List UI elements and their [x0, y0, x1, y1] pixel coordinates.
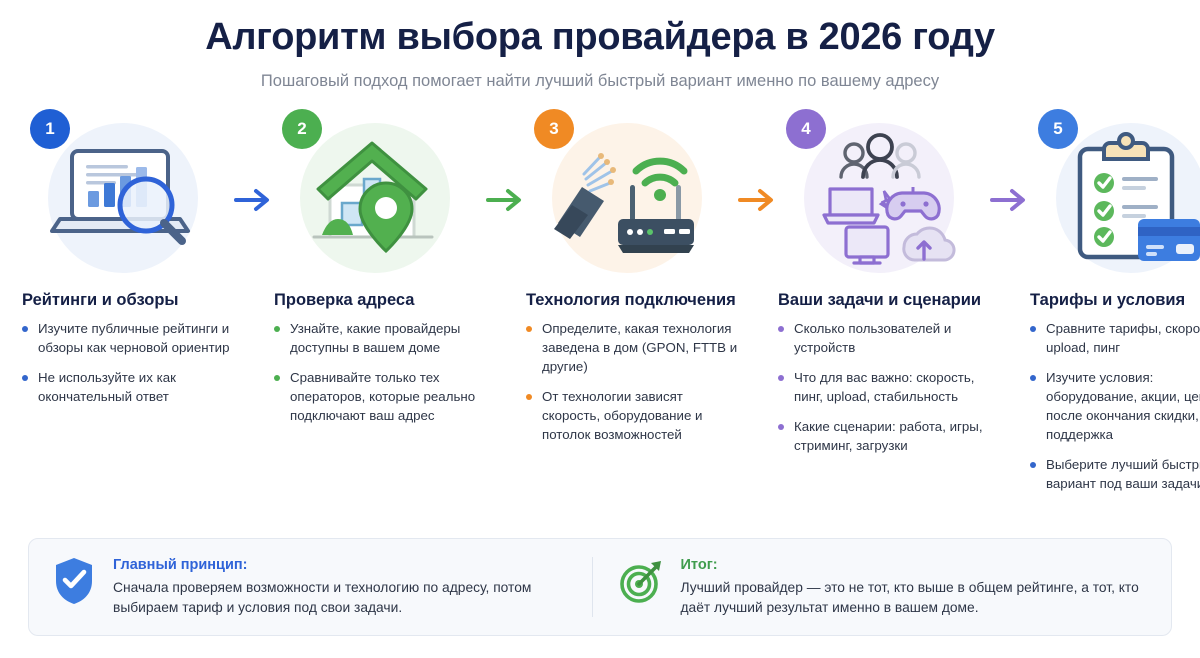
step-4: 4 [778, 109, 990, 467]
house-location-pin-icon [294, 127, 459, 269]
footer-principle-label: Главный принцип: [113, 557, 582, 573]
arrow-step-3-to-4 [738, 109, 778, 289]
step-3-bullets: Определите, какая технология заведена в … [526, 320, 738, 444]
steps-row: 1 Рейтинги и обзоры Из [0, 91, 1200, 505]
arrow-step-1-to-2 [234, 109, 274, 289]
list-item: Изучите условия: оборудование, акции, це… [1030, 369, 1200, 445]
footer-principle-text: Сначала проверяем возможности и технолог… [113, 578, 582, 619]
header: Алгоритм выбора провайдера в 2026 году П… [0, 0, 1200, 91]
arrow-step-2-to-3 [486, 109, 526, 289]
step-4-title: Ваши задачи и сценарии [778, 291, 990, 311]
step-2-illustration: 2 [274, 109, 486, 279]
step-1-bullets: Изучите публичные рейтинги и обзоры как … [22, 320, 234, 407]
page-title: Алгоритм выбора провайдера в 2026 году [0, 16, 1200, 60]
step-4-badge: 4 [786, 109, 826, 149]
footer-result-text: Лучший провайдер — это не тот, кто выше … [681, 578, 1150, 619]
step-3-badge: 3 [534, 109, 574, 149]
step-3-title: Технология подключения [526, 291, 738, 311]
footer-panel: Главный принцип: Сначала проверяем возмо… [28, 538, 1172, 636]
step-2-badge: 2 [282, 109, 322, 149]
list-item: Сравнивайте только тех операторов, котор… [274, 369, 486, 426]
list-item: Сравните тарифы, скорость, upload, пинг [1030, 320, 1200, 358]
step-3-illustration: 3 [526, 109, 738, 279]
footer-result-text-wrap: Итог: Лучший провайдер — это не тот, кто… [681, 555, 1150, 619]
list-item: Не используйте их как окончательный отве… [22, 369, 234, 407]
footer-divider [592, 557, 593, 617]
step-1-illustration: 1 [22, 109, 234, 279]
list-item: Сколько пользователей и устройств [778, 320, 990, 358]
footer-result-block: Итог: Лучший провайдер — это не тот, кто… [619, 555, 1150, 619]
footer-principle-block: Главный принцип: Сначала проверяем возмо… [51, 555, 582, 619]
list-item: Что для вас важно: скорость, пинг, uploa… [778, 369, 990, 407]
target-arrow-icon [619, 555, 665, 607]
step-5-illustration: 5 [1030, 109, 1200, 279]
laptop-chart-magnifier-icon [42, 127, 207, 269]
list-item: Определите, какая технология заведена в … [526, 320, 738, 377]
fiber-cable-router-wifi-icon [546, 127, 711, 269]
list-item: Какие сценарии: работа, игры, стриминг, … [778, 418, 990, 456]
step-5-badge: 5 [1038, 109, 1078, 149]
footer-result-label: Итог: [681, 557, 1150, 573]
step-4-bullets: Сколько пользователей и устройств Что дл… [778, 320, 990, 455]
step-1-title: Рейтинги и обзоры [22, 291, 234, 311]
step-2: 2 Проверка адреса Узнайте, какие провайд… [274, 109, 486, 437]
step-2-bullets: Узнайте, какие провайдеры доступны в ваш… [274, 320, 486, 425]
infographic-page: Алгоритм выбора провайдера в 2026 году П… [0, 0, 1200, 658]
step-1-badge: 1 [30, 109, 70, 149]
step-5-title: Тарифы и условия [1030, 291, 1200, 311]
clipboard-checklist-card-icon [1050, 127, 1200, 269]
list-item: От технологии зависят скорость, оборудов… [526, 388, 738, 445]
step-5-bullets: Сравните тарифы, скорость, upload, пинг … [1030, 320, 1200, 493]
step-4-illustration: 4 [778, 109, 990, 279]
list-item: Изучите публичные рейтинги и обзоры как … [22, 320, 234, 358]
shield-check-icon [51, 555, 97, 607]
list-item: Узнайте, какие провайдеры доступны в ваш… [274, 320, 486, 358]
users-devices-icon [798, 127, 963, 269]
step-5: 5 [1030, 109, 1200, 505]
page-subtitle: Пошаговый подход помогает найти лучший б… [0, 72, 1200, 91]
step-3: 3 [526, 109, 738, 456]
footer-principle-text-wrap: Главный принцип: Сначала проверяем возмо… [113, 555, 582, 619]
arrow-step-4-to-5 [990, 109, 1030, 289]
step-2-title: Проверка адреса [274, 291, 486, 311]
step-1: 1 Рейтинги и обзоры Из [22, 109, 234, 418]
list-item: Выберите лучший быстрый вариант под ваши… [1030, 456, 1200, 494]
